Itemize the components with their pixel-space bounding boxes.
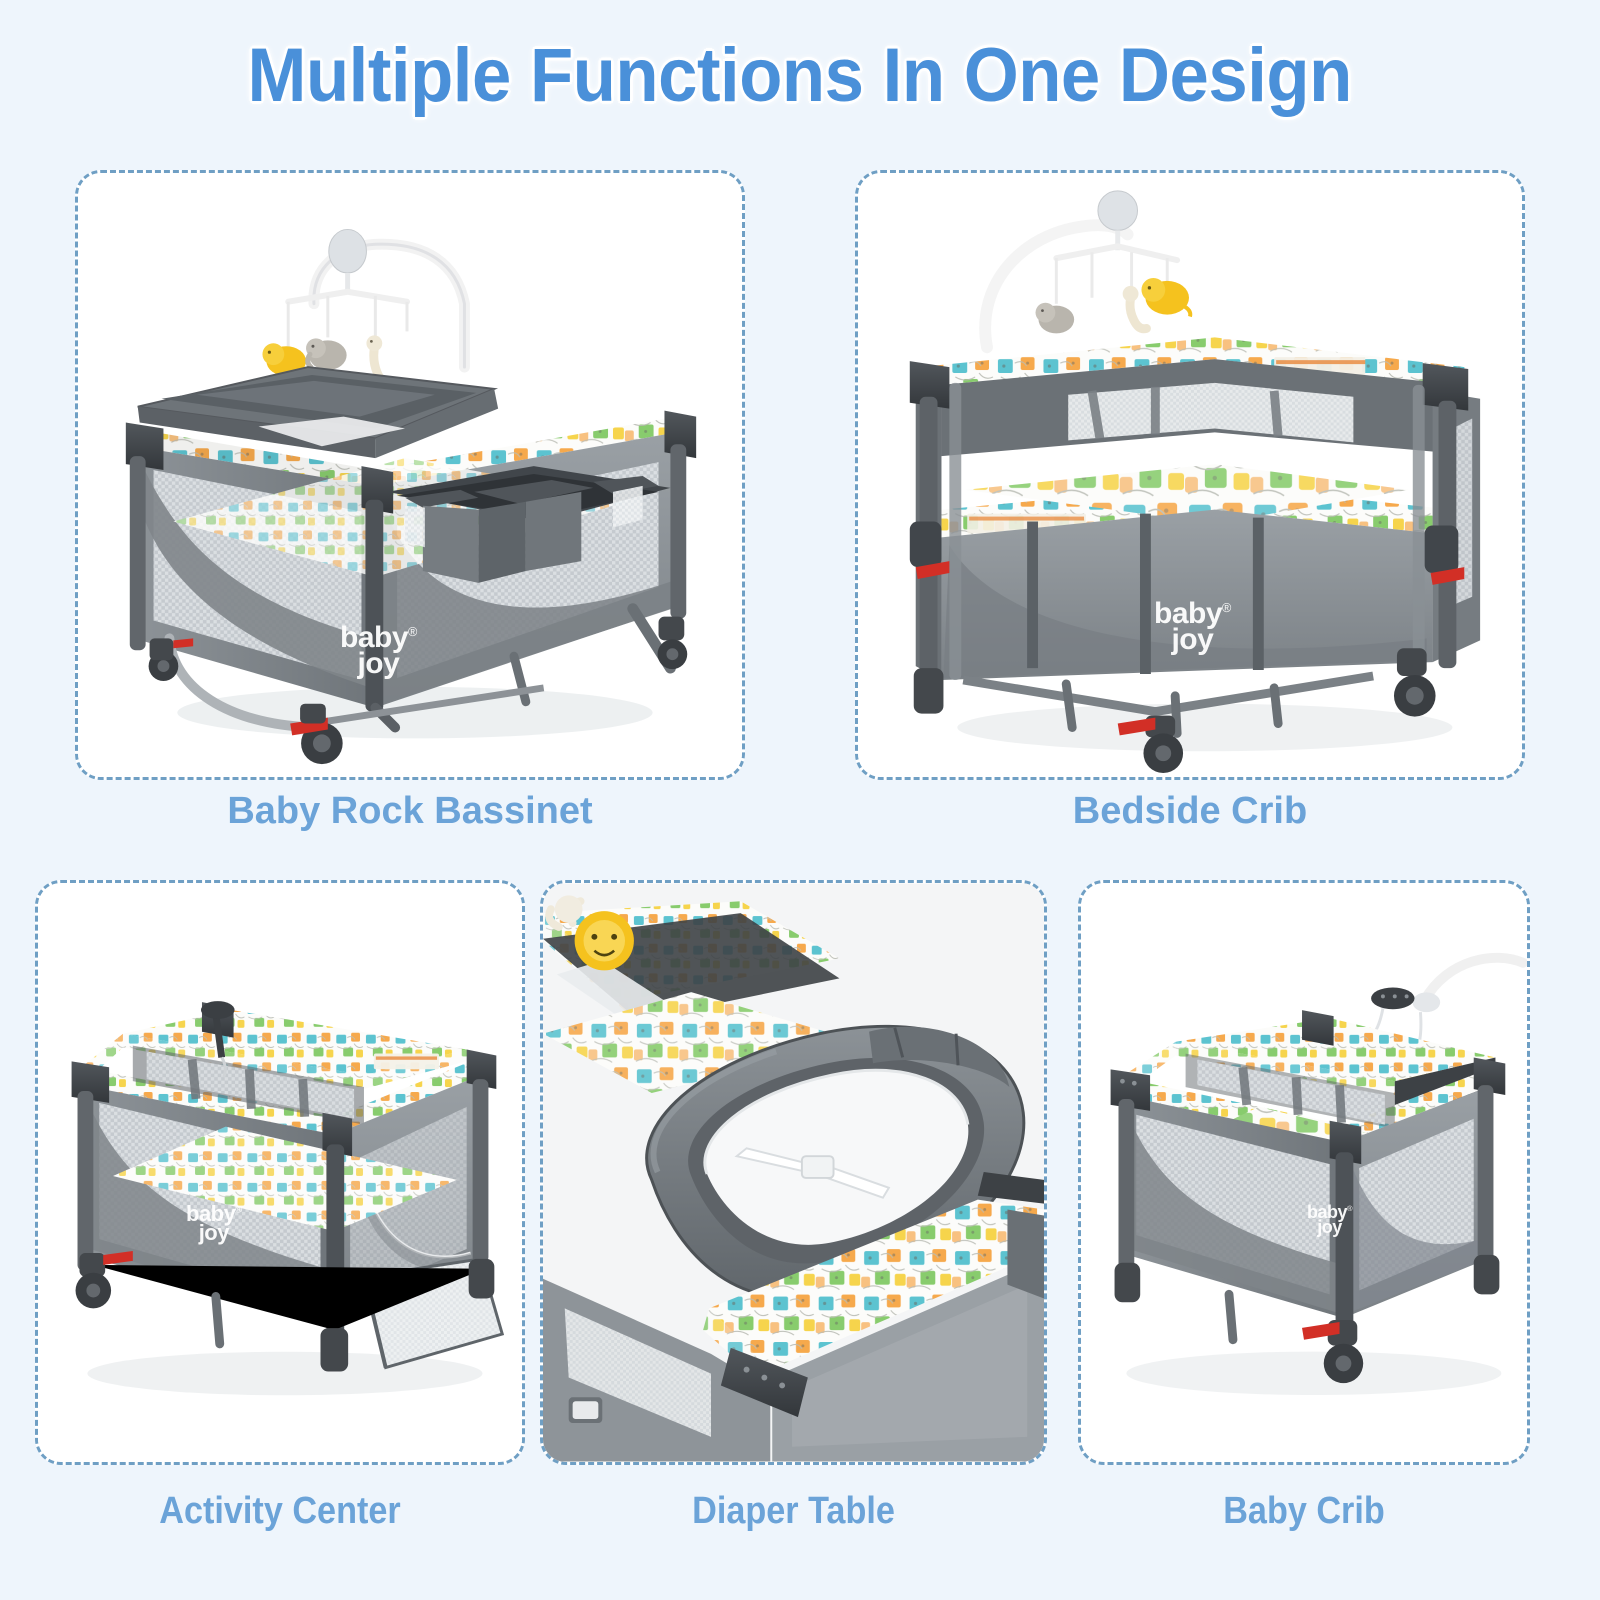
page-title: Multiple Functions In One Design — [248, 34, 1352, 118]
caption-activity-center: Activity Center — [60, 1488, 501, 1534]
panel-baby-crib[interactable]: baby® joy — [1078, 880, 1530, 1465]
panel-activity-center[interactable]: baby® joy — [35, 880, 525, 1465]
product-image-bedside: baby® joy — [858, 173, 1522, 777]
caption-bedside-crib: Bedside Crib — [855, 788, 1525, 834]
product-image-bassinet: baby® joy — [78, 173, 742, 777]
caption-baby-rock-bassinet: Baby Rock Bassinet — [75, 788, 745, 834]
page-title-wrap: Multiple Functions In One Design — [0, 34, 1600, 118]
product-image-diaper — [543, 883, 1044, 1462]
product-image-crib: baby® joy — [1081, 883, 1527, 1462]
panel-baby-rock-bassinet[interactable]: baby® joy — [75, 170, 745, 780]
caption-baby-crib: Baby Crib — [1101, 1488, 1508, 1534]
product-image-activity: baby® joy — [38, 883, 522, 1462]
caption-diaper-table: Diaper Table — [565, 1488, 1021, 1534]
panel-bedside-crib[interactable]: baby® joy — [855, 170, 1525, 780]
panel-diaper-table[interactable] — [540, 880, 1047, 1465]
